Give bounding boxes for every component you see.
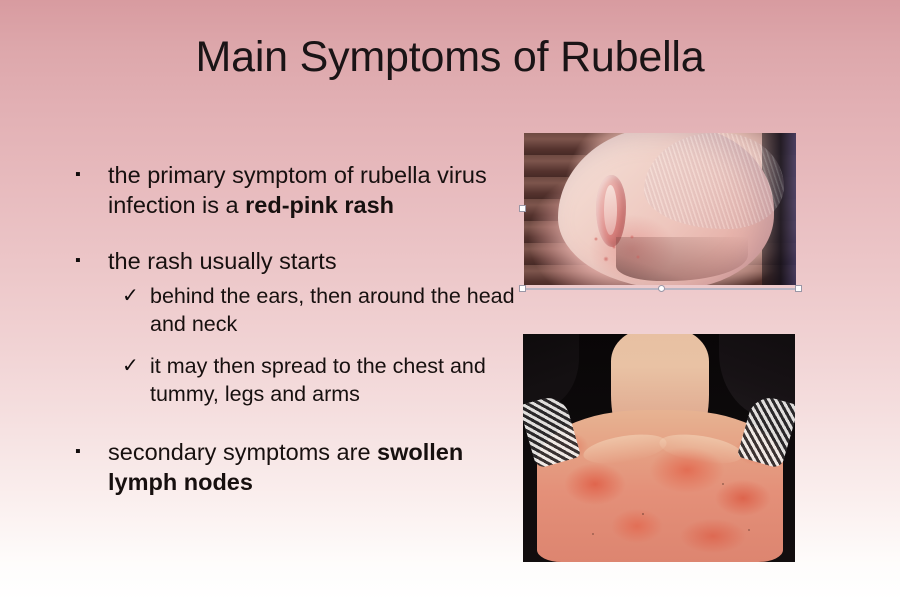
bullet-row: ▪ the rash usually starts bbox=[66, 246, 518, 276]
sub-bullet-item-1: ✓ behind the ears, then around the head … bbox=[66, 282, 518, 338]
photo-rash-patch bbox=[584, 229, 652, 273]
check-mark-icon: ✓ bbox=[122, 282, 144, 310]
selection-handle-bottom-center[interactable] bbox=[658, 285, 665, 292]
bullet-text: secondary symptoms are swollen lymph nod… bbox=[108, 439, 463, 495]
selection-handle-bottom-left[interactable] bbox=[519, 285, 526, 292]
selection-handle-middle-left[interactable] bbox=[519, 205, 526, 212]
bullet-item-3: ▪ secondary symptoms are swollen lymph n… bbox=[66, 437, 518, 497]
bullet-text: the rash usually starts bbox=[108, 248, 337, 274]
bullet-row: ▪ secondary symptoms are swollen lymph n… bbox=[66, 437, 518, 497]
sub-bullet-list: ✓ behind the ears, then around the head … bbox=[66, 282, 518, 408]
sub-bullet-text: behind the ears, then around the head an… bbox=[150, 284, 515, 336]
page-title: Main Symptoms of Rubella bbox=[0, 32, 900, 82]
square-bullet-icon: ▪ bbox=[75, 246, 95, 276]
slide-body-content: ▪ the primary symptom of rubella virus i… bbox=[66, 160, 518, 497]
check-mark-icon: ✓ bbox=[122, 352, 144, 380]
bullet-item-2: ▪ the rash usually starts ✓ behind the e… bbox=[66, 246, 518, 408]
sub-bullet-text: it may then spread to the chest and tumm… bbox=[150, 354, 486, 406]
slide-canvas: Main Symptoms of Rubella ▪ the primary s… bbox=[0, 0, 900, 600]
bullet-text: the primary symptom of rubella virus inf… bbox=[108, 162, 487, 218]
photo-ear-inner bbox=[604, 185, 617, 235]
photo-skin-speckles bbox=[523, 334, 795, 562]
selection-handle-bottom-right[interactable] bbox=[795, 285, 802, 292]
bullet-text-emphasis: red-pink rash bbox=[245, 192, 394, 218]
bullet-text-lead: secondary symptoms are bbox=[108, 439, 377, 465]
bullet-text-lead: the rash usually starts bbox=[108, 248, 337, 274]
square-bullet-icon: ▪ bbox=[75, 437, 95, 467]
square-bullet-icon: ▪ bbox=[75, 160, 95, 190]
rash-neck-chest-photo[interactable] bbox=[523, 334, 795, 562]
bullet-item-1: ▪ the primary symptom of rubella virus i… bbox=[66, 160, 518, 220]
rash-behind-ear-photo[interactable] bbox=[524, 133, 796, 285]
sub-bullet-item-2: ✓ it may then spread to the chest and tu… bbox=[66, 352, 518, 408]
bullet-row: ▪ the primary symptom of rubella virus i… bbox=[66, 160, 518, 220]
